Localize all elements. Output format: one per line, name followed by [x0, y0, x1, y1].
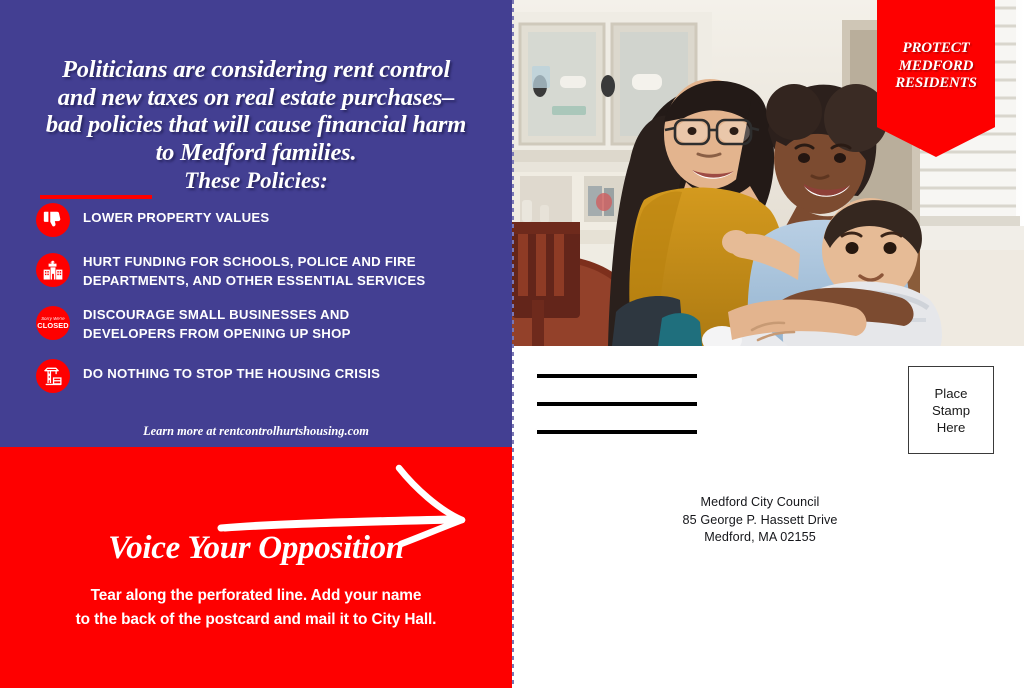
address-line: [537, 374, 697, 378]
cta-heading: Voice Your Opposition: [0, 530, 512, 567]
subhead: These Policies:: [184, 168, 328, 194]
ribbon-label: PROTECT MEDFORD RESIDENTS: [877, 40, 995, 93]
headline-line-1: Politicians are considering rent control: [26, 56, 486, 84]
list-item: HURT FUNDING FOR SCHOOLS, POLICE AND FIR…: [36, 253, 496, 290]
list-item-label: DO NOTHING TO STOP THE HOUSING CRISIS: [83, 359, 380, 384]
recipient-street: 85 George P. Hassett Drive: [610, 512, 910, 530]
list-item-line-1: DO NOTHING TO STOP THE HOUSING CRISIS: [83, 366, 380, 381]
sender-address-lines: [537, 374, 697, 458]
headline-line-2: and new taxes on real estate purchases–: [26, 84, 486, 112]
list-item: Sorry We're CLOSED DISCOURAGE SMALL BUSI…: [36, 306, 496, 343]
ribbon-label-line-1: PROTECT: [877, 40, 995, 58]
address-line: [537, 402, 697, 406]
headline: Politicians are considering rent control…: [26, 56, 486, 166]
list-item-line-1: HURT FUNDING FOR SCHOOLS, POLICE AND FIR…: [83, 254, 416, 269]
ribbon-label-line-3: RESIDENTS: [877, 75, 995, 93]
list-item-line-2: DEVELOPERS FROM OPENING UP SHOP: [83, 326, 351, 341]
list-item-line-2: DEPARTMENTS, AND OTHER ESSENTIAL SERVICE…: [83, 273, 425, 288]
school-building-icon: [36, 253, 70, 287]
recipient-address: Medford City Council 85 George P. Hasset…: [610, 494, 910, 547]
closed-sign-icon: Sorry We're CLOSED: [36, 306, 70, 340]
list-item-line-1: LOWER PROPERTY VALUES: [83, 210, 269, 225]
headline-line-4: to Medford families.: [26, 139, 486, 167]
cta-instruction: Tear along the perforated line. Add your…: [26, 584, 486, 632]
postcard-mailer: Politicians are considering rent control…: [0, 0, 1024, 688]
stamp-line-3: Here: [937, 419, 966, 436]
closed-sign-line-2: CLOSED: [37, 322, 68, 329]
list-item-label: LOWER PROPERTY VALUES: [83, 203, 269, 228]
policy-effects-list: LOWER PROPERTY VALUES: [36, 203, 496, 404]
closed-sign-text: Sorry We're CLOSED: [36, 306, 70, 340]
cta-instruction-line-2: to the back of the postcard and mail it …: [76, 611, 437, 628]
list-item-label: DISCOURAGE SMALL BUSINESSES AND DEVELOPE…: [83, 306, 351, 343]
stamp-line-1: Place: [935, 385, 968, 402]
recipient-name: Medford City Council: [610, 494, 910, 512]
stamp-box: Place Stamp Here: [908, 366, 994, 454]
list-item-label: HURT FUNDING FOR SCHOOLS, POLICE AND FIR…: [83, 253, 425, 290]
list-item-line-1: DISCOURAGE SMALL BUSINESSES AND: [83, 307, 349, 322]
message-panel: Politicians are considering rent control…: [0, 0, 512, 447]
list-item: DO NOTHING TO STOP THE HOUSING CRISIS: [36, 359, 496, 393]
headline-line-3: bad policies that will cause financial h…: [26, 111, 486, 139]
list-item: LOWER PROPERTY VALUES: [36, 203, 496, 237]
perforation-line: [512, 0, 514, 688]
address-line: [537, 430, 697, 434]
learn-more-text: Learn more at rentcontrolhurtshousing.co…: [0, 424, 512, 439]
protect-medford-ribbon: PROTECT MEDFORD RESIDENTS: [877, 0, 995, 157]
cta-instruction-line-1: Tear along the perforated line. Add your…: [91, 587, 422, 604]
construction-crane-icon: [36, 359, 70, 393]
recipient-city-state-zip: Medford, MA 02155: [610, 529, 910, 547]
ribbon-label-line-2: MEDFORD: [877, 58, 995, 76]
stamp-line-2: Stamp: [932, 402, 970, 419]
thumbs-down-icon: [36, 203, 70, 237]
subhead-container: These Policies:: [26, 168, 486, 194]
subhead-underline: [40, 195, 152, 199]
